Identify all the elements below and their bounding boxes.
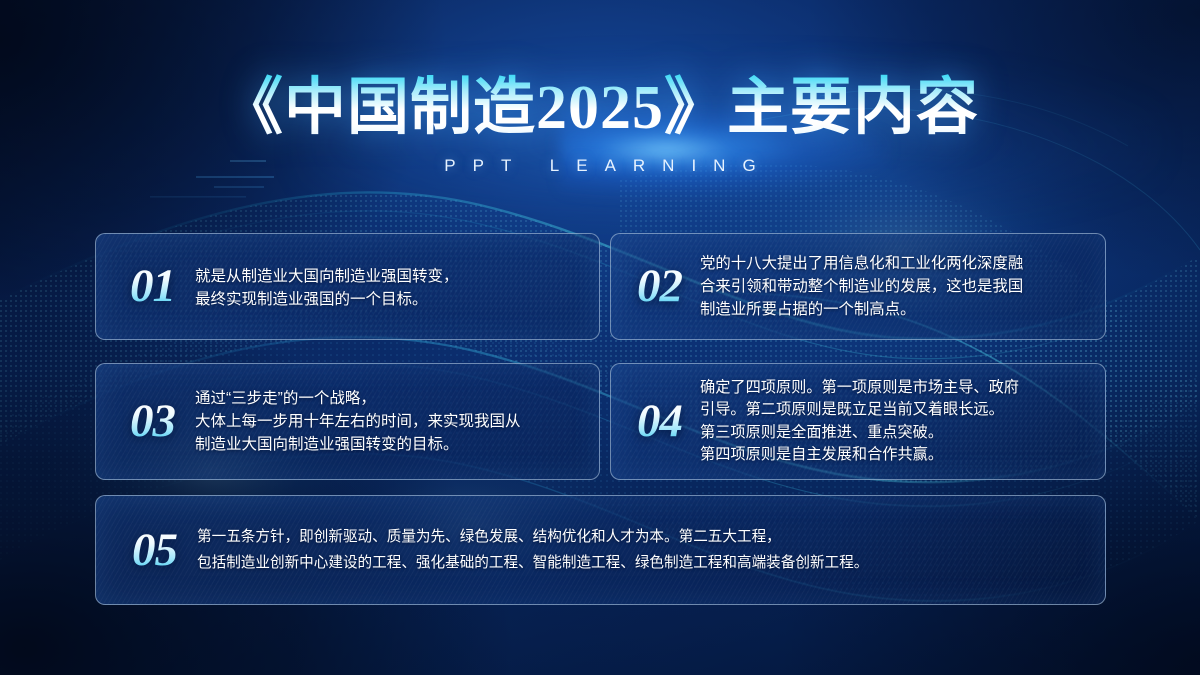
content-card-05[interactable]: 05 第一五条方针，即创新驱动、质量为先、绿色发展、结构优化和人才为本。第二五大…	[95, 495, 1106, 605]
presentation-slide: 《中国制造2025》主要内容 PPT LEARNING 01 就是从制造业大国向…	[0, 0, 1200, 675]
card-text-01: 就是从制造业大国向制造业强国转变， 最终实现制造业强国的一个目标。	[195, 263, 583, 311]
page-title: 《中国制造2025》主要内容	[0, 72, 1200, 144]
card-number-04: 04	[637, 398, 682, 445]
slide-header: 《中国制造2025》主要内容 PPT LEARNING	[0, 0, 1200, 176]
card-number-05: 05	[132, 527, 177, 574]
card-text-02: 党的十八大提出了用信息化和工业化两化深度融 合来引领和带动整个制造业的发展，这也…	[700, 252, 1091, 321]
content-card-02[interactable]: 02 党的十八大提出了用信息化和工业化两化深度融 合来引领和带动整个制造业的发展…	[610, 233, 1106, 340]
card-text-05: 第一五条方针，即创新驱动、质量为先、绿色发展、结构优化和人才为本。第二五大工程，…	[197, 524, 1089, 576]
content-card-04[interactable]: 04 确定了四项原则。第一项原则是市场主导、政府 引导。第二项原则是既立足当前又…	[610, 363, 1106, 480]
content-card-03[interactable]: 03 通过“三步走”的一个战略， 大体上每一步用十年左右的时间，来实现我国从 制…	[95, 363, 600, 480]
card-number-02: 02	[637, 263, 682, 310]
card-number-03: 03	[130, 398, 175, 445]
card-number-01: 01	[130, 263, 175, 310]
card-text-03: 通过“三步走”的一个战略， 大体上每一步用十年左右的时间，来实现我国从 制造业大…	[195, 387, 583, 456]
card-text-04: 确定了四项原则。第一项原则是市场主导、政府 引导。第二项原则是既立足当前又着眼长…	[700, 377, 1091, 467]
page-subtitle: PPT LEARNING	[0, 156, 1200, 176]
content-card-01[interactable]: 01 就是从制造业大国向制造业强国转变， 最终实现制造业强国的一个目标。	[95, 233, 600, 340]
